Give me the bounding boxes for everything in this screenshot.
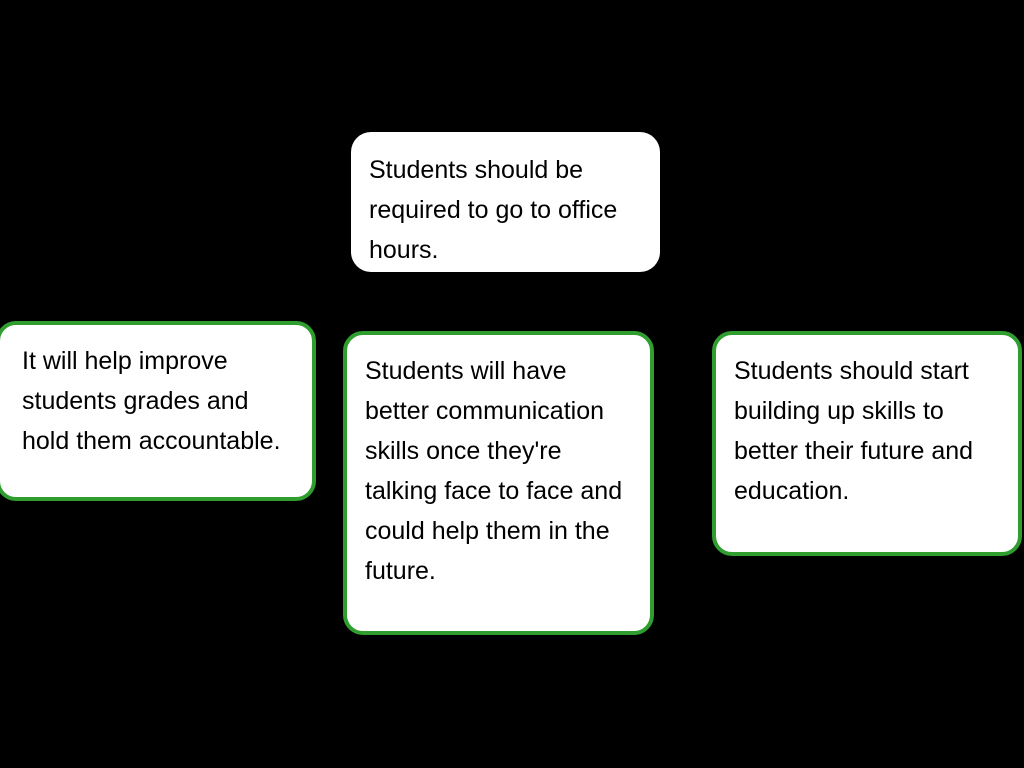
diagram-canvas: Students should be required to go to off… (0, 0, 1024, 768)
node-claim[interactable]: Students should be required to go to off… (351, 132, 660, 272)
node-reason-middle[interactable]: Students will have better communication … (343, 331, 654, 635)
node-reason-left[interactable]: It will help improve students grades and… (0, 321, 316, 501)
node-reason-right[interactable]: Students should start building up skills… (712, 331, 1022, 556)
